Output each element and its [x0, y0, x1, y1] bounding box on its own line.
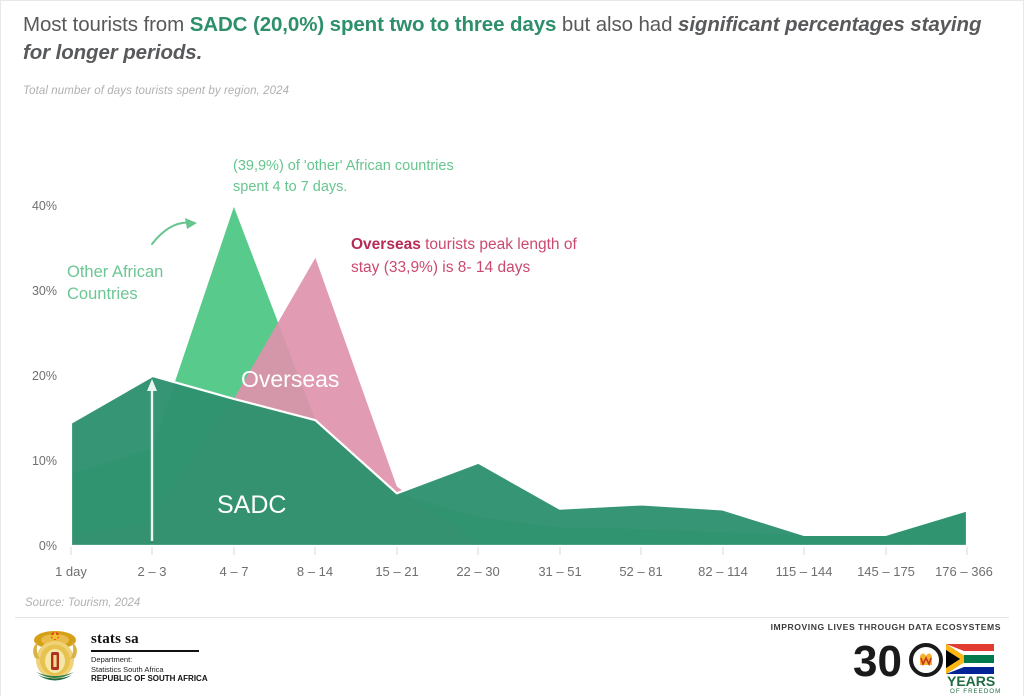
xtick-0: 1 day [55, 564, 87, 579]
xtick-3: 8 – 14 [297, 564, 333, 579]
ytick-30: 30% [32, 284, 57, 298]
source-note: Source: Tourism, 2024 [25, 597, 140, 609]
brand-statistics-sa: Statistics South Africa [91, 665, 208, 675]
anniversary-number: 30 [853, 637, 902, 686]
ytick-10: 10% [32, 454, 57, 468]
anniversary-years: YEARS [947, 673, 995, 689]
x-axis-tickmarks [71, 546, 967, 555]
brand-title: stats sa [91, 631, 208, 648]
brand-text: stats sa Department: Statistics South Af… [91, 629, 208, 684]
xtick-8: 82 – 114 [698, 564, 748, 579]
chart-canvas: 40% 30% 20% 10% 0% [1, 129, 1024, 591]
y-axis-ticks: 40% 30% 20% 10% 0% [32, 199, 57, 553]
chart-subtitle: Total number of days tourists spent by r… [23, 85, 1001, 97]
annotation-overseas-bold: Overseas [351, 236, 421, 253]
xtick-5: 22 – 30 [456, 564, 499, 579]
series-label-sadc: SADC [217, 495, 286, 516]
series-label-overseas: Overseas [241, 369, 339, 390]
brand-republic: REPUBLIC OF SOUTH AFRICA [91, 674, 208, 685]
xtick-11: 176 – 366 [935, 564, 993, 579]
header: Most tourists from SADC (20,0%) spent tw… [23, 11, 1001, 97]
statssa-logo: stats sa Department: Statistics South Af… [29, 628, 208, 686]
footer-tagline: IMPROVING LIVES THROUGH DATA ECOSYSTEMS [771, 622, 1001, 632]
headline-highlight: SADC (20,0%) spent two to three days [190, 13, 557, 36]
annotation-overseas: Overseas tourists peak length of stay (3… [351, 233, 591, 279]
ytick-40: 40% [32, 199, 57, 213]
x-axis-labels: 1 day 2 – 3 4 – 7 8 – 14 15 – 21 22 – 30… [55, 564, 993, 579]
area-sadc [71, 376, 967, 546]
xtick-9: 115 – 144 [776, 564, 833, 579]
annotation-other-african: (39,9%) of 'other' African countries spe… [233, 156, 493, 198]
xtick-10: 145 – 175 [857, 564, 915, 579]
30-years-of-freedom-logo: 30 YEARS OF FREEDOM [851, 636, 1003, 694]
infographic-page: Most tourists from SADC (20,0%) spent tw… [0, 0, 1024, 696]
sa-flag-icon [946, 644, 994, 674]
area-chart: 40% 30% 20% 10% 0% [1, 129, 1024, 591]
brand-department: Department: [91, 655, 208, 665]
xtick-6: 31 – 51 [538, 564, 581, 579]
xtick-2: 4 – 7 [220, 564, 249, 579]
headline-part2: but also had [556, 13, 678, 36]
headline-part1: Most tourists from [23, 13, 190, 36]
brand-underline [91, 650, 199, 652]
anniversary-of-freedom: OF FREEDOM [950, 688, 1001, 694]
coat-of-arms-icon [29, 628, 81, 686]
series-label-other-african: Other African Countries [67, 261, 217, 305]
xtick-4: 15 – 21 [375, 564, 418, 579]
xtick-7: 52 – 81 [619, 564, 662, 579]
xtick-1: 2 – 3 [138, 564, 167, 579]
curved-arrow-icon [152, 218, 197, 244]
footer: stats sa Department: Statistics South Af… [1, 618, 1023, 697]
page-title: Most tourists from SADC (20,0%) spent tw… [23, 11, 1001, 67]
ytick-0: 0% [39, 539, 57, 553]
ytick-20: 20% [32, 369, 57, 383]
